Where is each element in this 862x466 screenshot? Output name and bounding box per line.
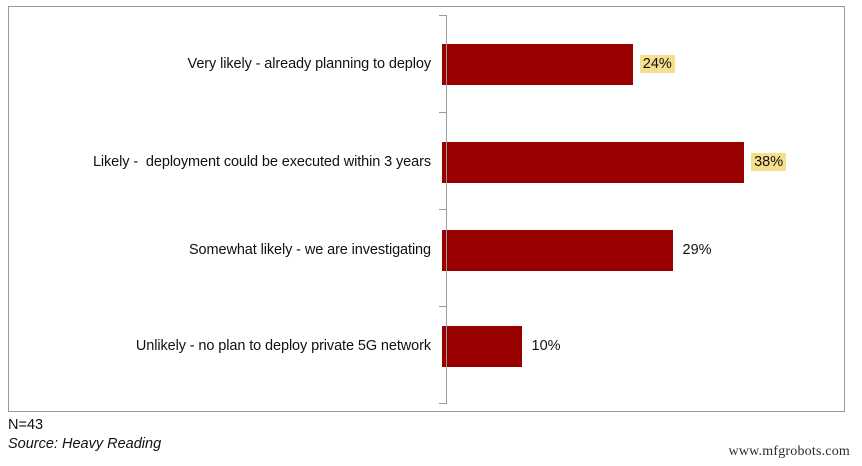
chart-footer: N=43 Source: Heavy Reading [8, 416, 508, 453]
category-axis [438, 15, 447, 404]
axis-tick [439, 209, 446, 210]
axis-line [446, 15, 447, 404]
sample-size-note: N=43 [8, 416, 508, 435]
bar-category-label: Somewhat likely - we are investigating [9, 243, 431, 258]
bar-group: 10% [442, 326, 564, 367]
source-note: Source: Heavy Reading [8, 435, 508, 454]
chart-frame: Very likely - already planning to deploy… [8, 6, 845, 412]
bar-category-label: Likely - deployment could be executed wi… [9, 155, 431, 170]
bar-value-label: 24% [640, 55, 675, 74]
bar-row: Unlikely - no plan to deploy private 5G … [9, 297, 844, 395]
bar-row: Likely - deployment could be executed wi… [9, 113, 844, 211]
bar-3 [442, 326, 522, 367]
bar-category-label: Unlikely - no plan to deploy private 5G … [9, 339, 431, 354]
bar-value-label: 29% [680, 241, 715, 260]
bar-value-label: 38% [751, 153, 786, 172]
bar-value-label: 10% [529, 337, 564, 356]
chart-plot-area: Very likely - already planning to deploy… [9, 7, 844, 411]
watermark-text: www.mfgrobots.com [729, 444, 850, 460]
axis-tick [439, 306, 446, 307]
bar-row: Very likely - already planning to deploy… [9, 15, 844, 113]
axis-tick [439, 403, 446, 404]
bar-group: 24% [442, 44, 675, 85]
bar-group: 29% [442, 230, 715, 271]
axis-tick [439, 15, 446, 16]
bar-group: 38% [442, 142, 786, 183]
bar-0 [442, 44, 633, 85]
bar-category-label: Very likely - already planning to deploy [9, 57, 431, 72]
axis-tick [439, 112, 446, 113]
bar-2 [442, 230, 673, 271]
bar-row: Somewhat likely - we are investigating 2… [9, 201, 844, 299]
bar-1 [442, 142, 744, 183]
